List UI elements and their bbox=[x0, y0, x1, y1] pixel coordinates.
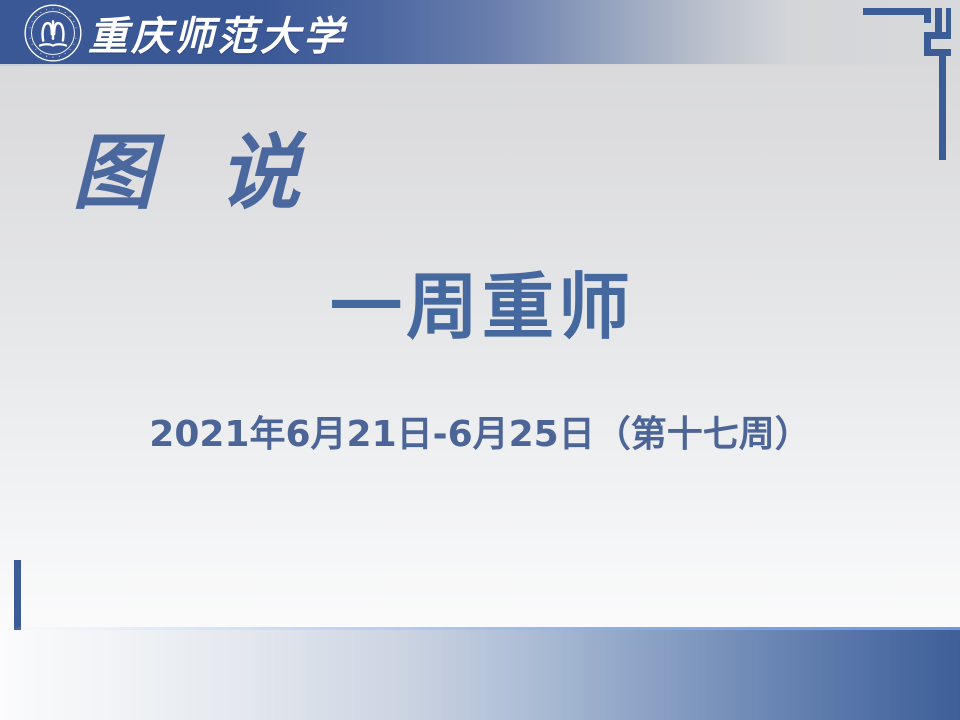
slide-title-brush: 图 说 bbox=[72, 130, 319, 216]
slide-title-main: 一周重师 bbox=[330, 268, 634, 347]
corner-ornament-top-right-icon bbox=[863, 8, 951, 160]
footer-banner bbox=[0, 630, 960, 720]
presentation-slide: 重庆师范大学 bbox=[0, 0, 960, 720]
university-name-title: 重庆师范大学 bbox=[88, 5, 346, 61]
slide-subtitle-date: 2021年6月21日-6月25日（第十七周） bbox=[0, 405, 960, 457]
university-emblem-icon bbox=[24, 4, 82, 62]
header-banner-edge bbox=[0, 64, 960, 66]
